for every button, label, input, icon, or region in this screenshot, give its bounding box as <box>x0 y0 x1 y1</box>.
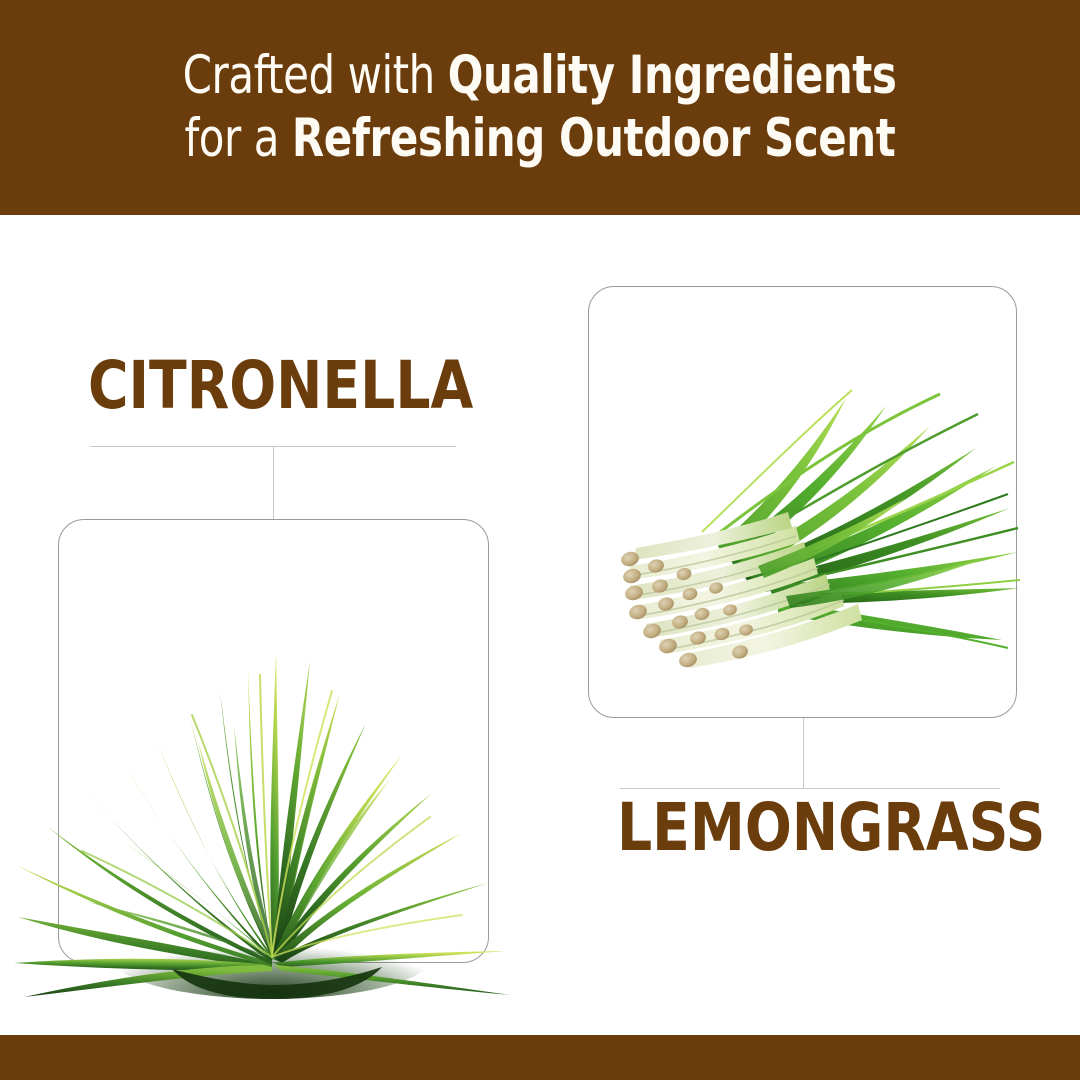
ingredient-infographic-canvas: Crafted with Quality Ingredients for a R… <box>0 0 1080 1080</box>
headline-line-1-light: Crafted with <box>183 45 448 106</box>
top-brown-banner: Crafted with Quality Ingredients for a R… <box>0 0 1080 215</box>
headline-line-2-bold: Refreshing Outdoor Scent <box>292 108 895 169</box>
connector-rule-vertical-citronella <box>273 446 274 520</box>
headline-line-2-light: for a <box>185 108 292 169</box>
headline-line-2: for a Refreshing Outdoor Scent <box>185 108 896 171</box>
bottom-brown-banner <box>0 1035 1080 1080</box>
lemongrass-stalk-bundle-photo <box>590 390 1020 690</box>
citronella-grass-clump-photo <box>10 565 530 995</box>
headline-line-1-bold: Quality Ingredients <box>448 45 897 106</box>
connector-rule-vertical-lemongrass <box>803 718 804 788</box>
headline-line-1: Crafted with Quality Ingredients <box>183 45 897 108</box>
ingredient-label-lemongrass: LEMONGRASS <box>617 795 1045 861</box>
ingredient-label-citronella: CITRONELLA <box>88 353 473 419</box>
